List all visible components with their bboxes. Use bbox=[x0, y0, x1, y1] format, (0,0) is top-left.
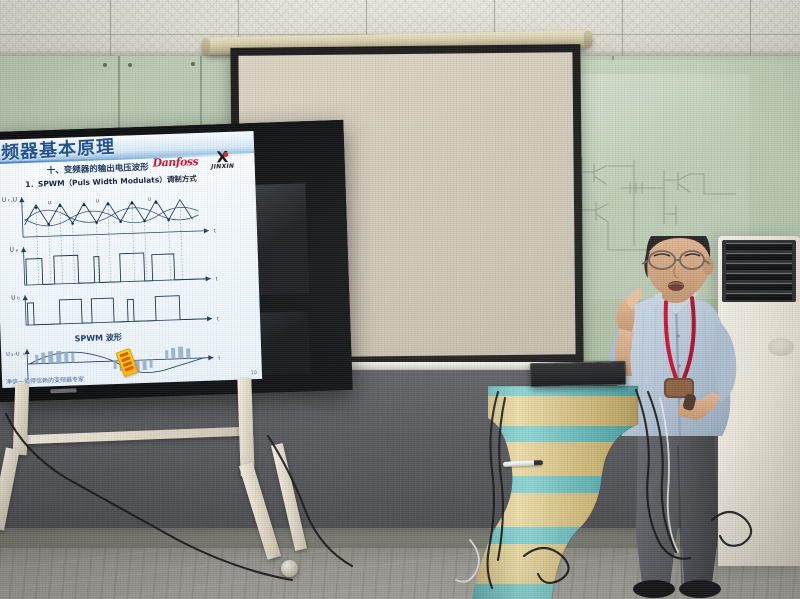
svg-text:U: U bbox=[96, 198, 100, 204]
wall-fastener-dot bbox=[191, 62, 195, 66]
roller-end-cap-right bbox=[584, 30, 592, 47]
photo-scene: 变频器基本原理 十、变频器的输出电压波形 1．SPWM（Puls Width M… bbox=[0, 0, 800, 599]
axis-label-ur-uc: U bbox=[2, 197, 7, 204]
svg-text:U: U bbox=[148, 197, 152, 203]
roller-end-cap-left bbox=[202, 38, 210, 55]
svg-text:U: U bbox=[48, 200, 52, 206]
wall-fastener-dot bbox=[128, 63, 132, 67]
slide-page-number: 10 bbox=[250, 370, 257, 376]
svg-text:,U: ,U bbox=[11, 196, 18, 203]
tv-stand-caster bbox=[281, 560, 298, 577]
laptop[interactable] bbox=[530, 361, 627, 387]
svg-text:a: a bbox=[11, 353, 13, 357]
svg-text:t: t bbox=[216, 276, 218, 282]
axis-label-ua-ub: U bbox=[6, 352, 10, 358]
svg-text:c: c bbox=[21, 197, 23, 202]
jinxin-logo: X JINXIN bbox=[202, 151, 243, 170]
slide-waveform-caption: SPWM 波形 bbox=[74, 332, 122, 345]
slide-content: 变频器基本原理 十、变频器的输出电压波形 1．SPWM（Puls Width M… bbox=[0, 131, 262, 388]
wall-fastener-dot bbox=[103, 63, 107, 67]
jinxin-wordmark: JINXIN bbox=[203, 162, 243, 170]
svg-text:t: t bbox=[217, 316, 219, 322]
svg-text:r: r bbox=[8, 198, 10, 203]
svg-text:b: b bbox=[17, 295, 20, 300]
jinxin-red-dot bbox=[223, 152, 228, 157]
axis-label-ub: U bbox=[11, 294, 16, 301]
slide-heading: 十、变频器的输出电压波形 bbox=[47, 161, 149, 177]
tv-stand-leg-left-upper bbox=[13, 383, 30, 455]
svg-text:t: t bbox=[218, 355, 220, 361]
danfoss-logo: Danfoss bbox=[152, 155, 198, 170]
svg-text:t: t bbox=[214, 228, 216, 234]
marker-cap bbox=[534, 460, 543, 465]
lectern bbox=[466, 380, 666, 599]
axis-label-ua: U bbox=[9, 246, 14, 253]
ac-brand-badge bbox=[768, 338, 794, 356]
svg-text:a: a bbox=[15, 247, 18, 252]
flat-panel-display[interactable]: 变频器基本原理 十、变频器的输出电压波形 1．SPWM（Puls Width M… bbox=[0, 120, 353, 402]
svg-text:-U: -U bbox=[14, 351, 20, 357]
spwm-waveform-diagram: U r ,U c U a U b t t t U U U bbox=[0, 183, 254, 334]
